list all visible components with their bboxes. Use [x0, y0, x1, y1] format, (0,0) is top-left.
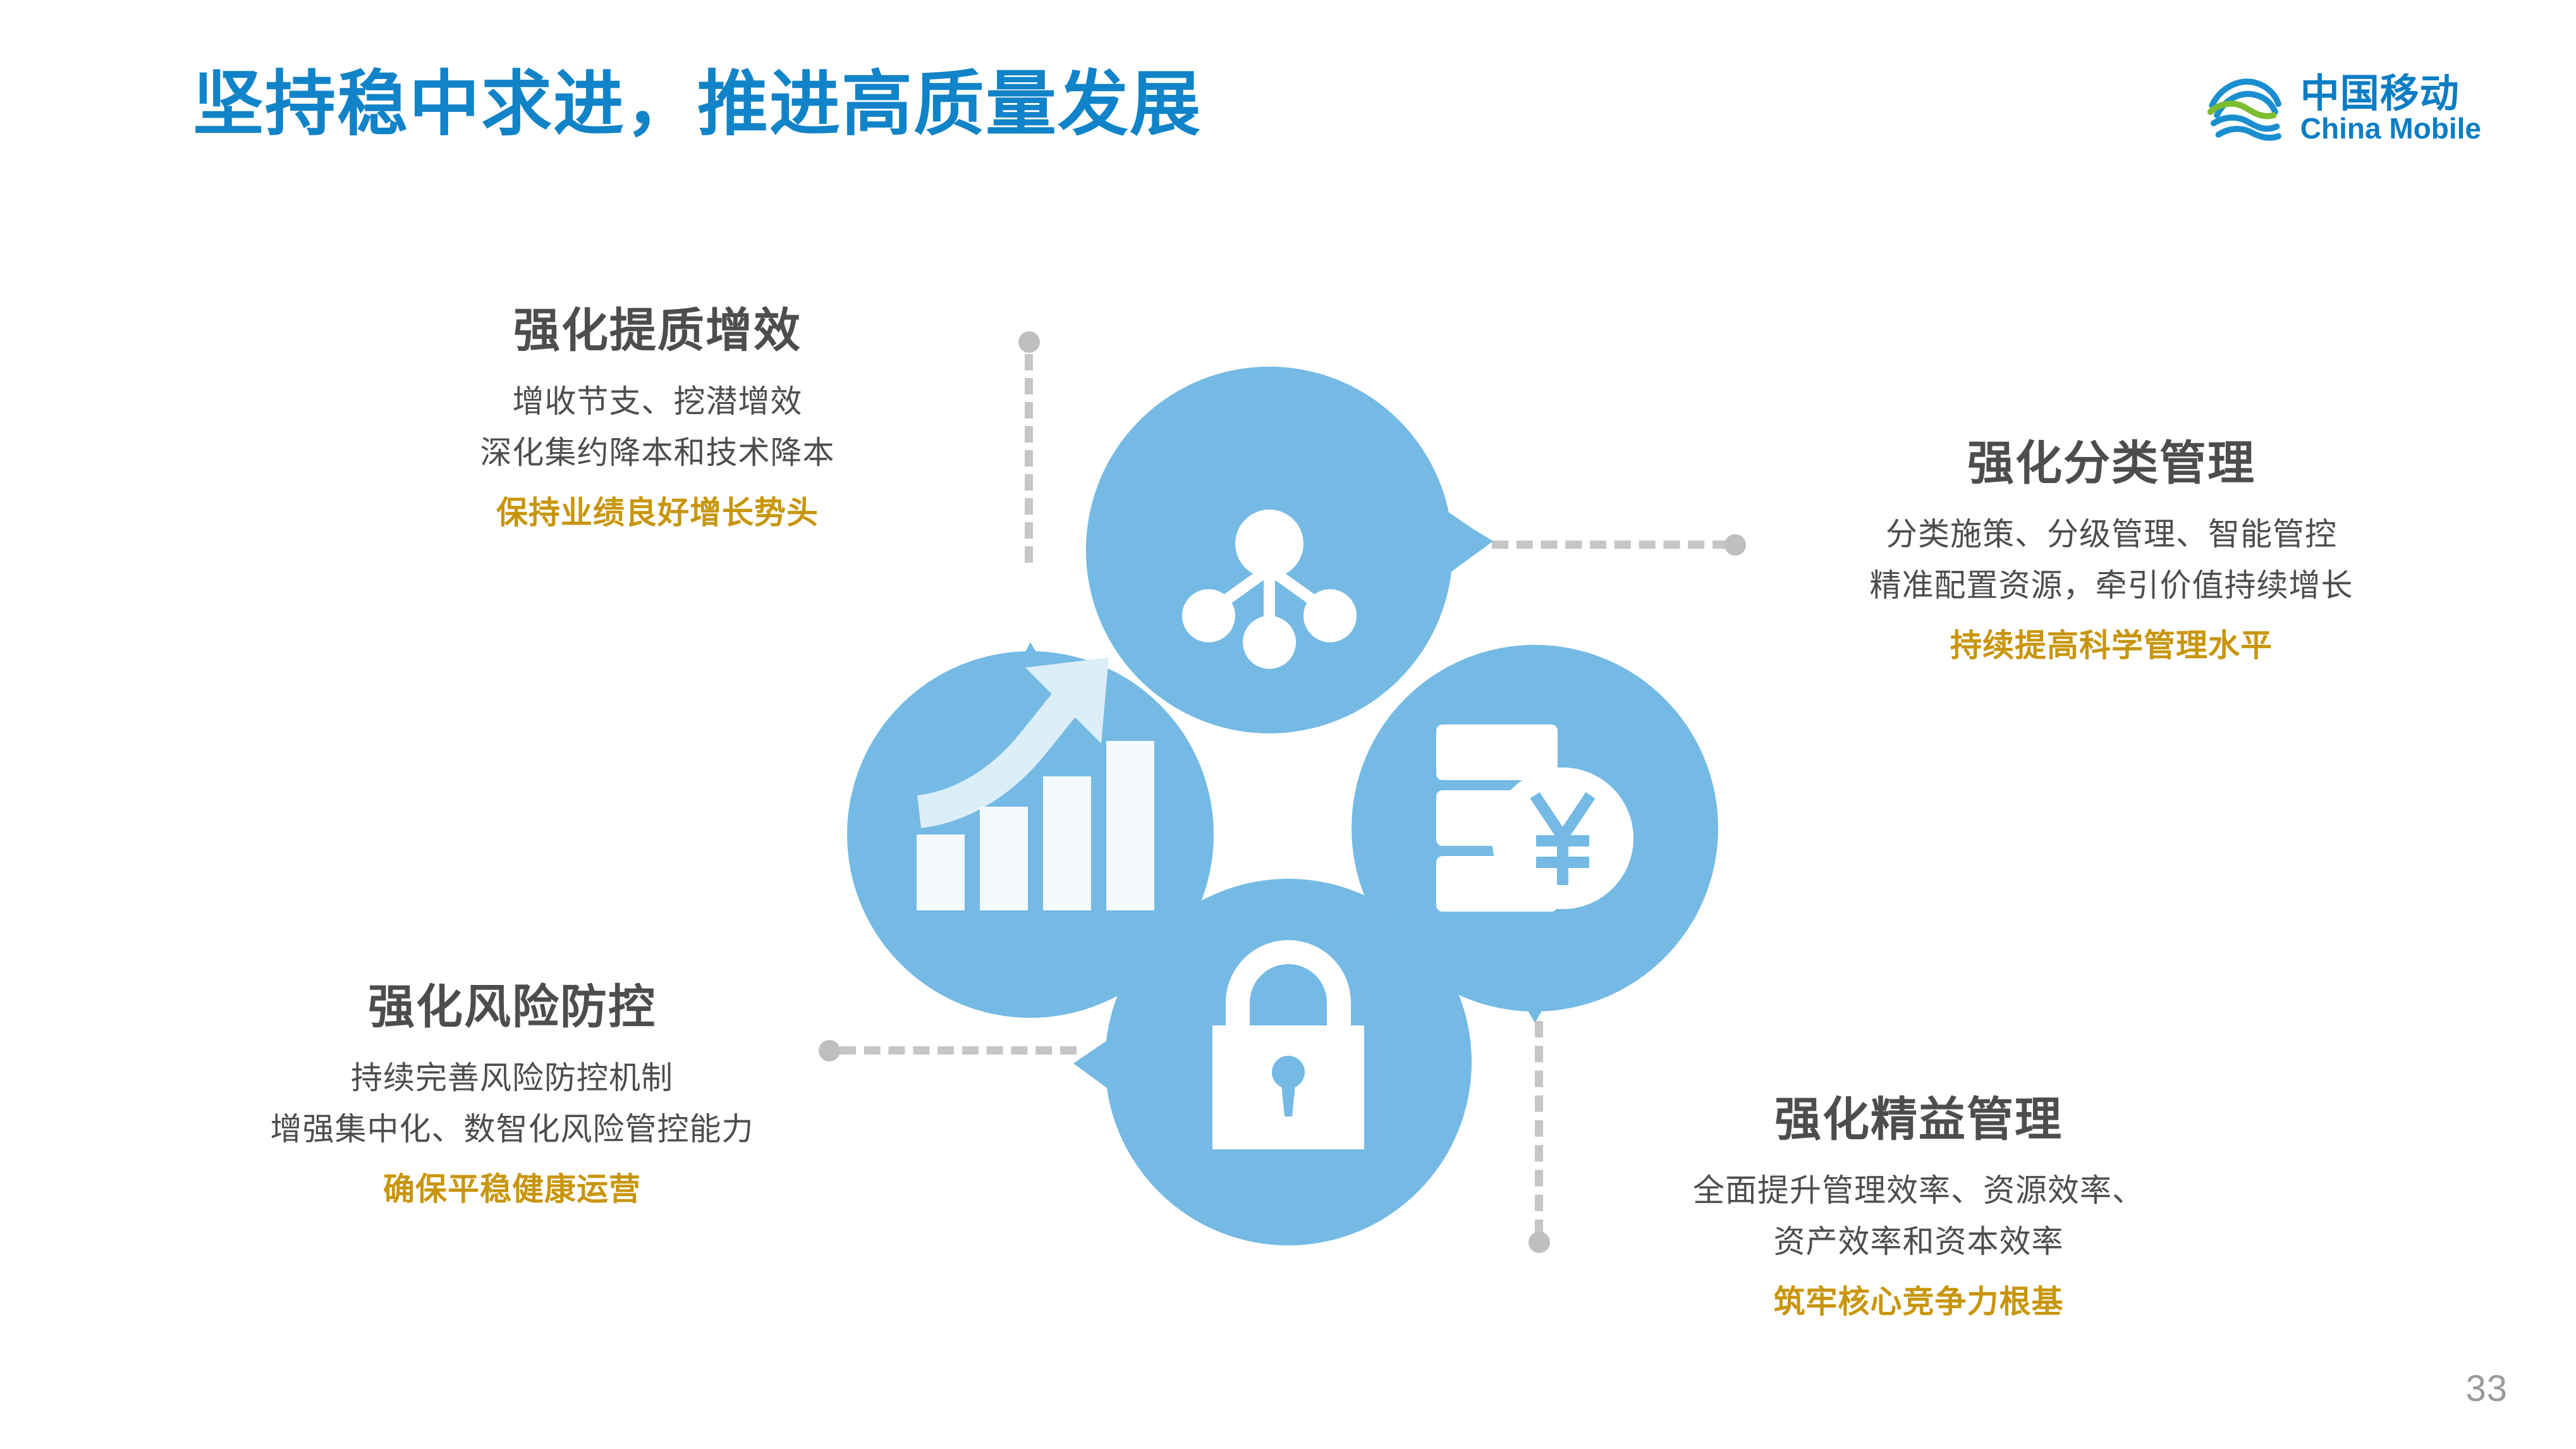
block-classify-line-2: 精准配置资源，牵引价值持续增长: [1764, 560, 2459, 611]
page-title: 坚持稳中求进，推进高质量发展: [193, 62, 1202, 147]
block-quality: 强化提质增效 增收节支、挖潜增效 深化集约降本和技术降本 保持业绩良好增长势头: [316, 303, 999, 539]
block-lean-line-2: 资产效率和资本效率: [1580, 1216, 2257, 1268]
block-classify-line-1: 分类施策、分级管理、智能管控: [1764, 509, 2459, 560]
block-classify-highlight: 持续提高科学管理水平: [1764, 620, 2459, 671]
logo-wordmark: 中国移动 China Mobile: [2300, 74, 2481, 144]
connector-dot-quality: [1018, 331, 1040, 353]
slide-canvas: 坚持稳中求进，推进高质量发展 中国移动 China Mobile 强化提质增效 …: [0, 0, 2576, 1449]
china-mobile-wave-logo-icon: [2206, 68, 2286, 149]
block-quality-line-2: 深化集约降本和技术降本: [316, 427, 999, 479]
block-risk: 强化风险防控 持续完善风险防控机制 增强集中化、数智化风险管控能力 确保平稳健康…: [183, 980, 841, 1215]
connector-dot-classify: [1724, 534, 1746, 556]
block-classify: 强化分类管理 分类施策、分级管理、智能管控 精准配置资源，牵引价值持续增长 持续…: [1764, 436, 2459, 671]
block-lean-highlight: 筑牢核心竞争力根基: [1580, 1276, 2257, 1328]
block-risk-line-2: 增强集中化、数智化风险管控能力: [183, 1104, 841, 1155]
block-risk-highlight: 确保平稳健康运营: [183, 1164, 841, 1215]
block-lean: 强化精益管理 全面提升管理效率、资源效率、 资产效率和资本效率 筑牢核心竞争力根…: [1580, 1092, 2257, 1328]
block-lean-heading: 强化精益管理: [1580, 1092, 2257, 1146]
connector-dot-lean: [1529, 1232, 1550, 1253]
connector-line-classify: [1492, 541, 1729, 549]
block-risk-line-1: 持续完善风险防控机制: [183, 1053, 841, 1104]
connector-line-risk: [839, 1046, 1077, 1055]
connector-dot-risk: [819, 1040, 840, 1061]
block-risk-heading: 强化风险防控: [183, 980, 841, 1034]
bubble-lock[interactable]: [1061, 866, 1478, 1258]
block-quality-heading: 强化提质增效: [316, 303, 999, 357]
page-number: 33: [2465, 1367, 2508, 1410]
connector-line-quality: [1025, 354, 1033, 563]
block-classify-heading: 强化分类管理: [1764, 436, 2459, 490]
logo-text-cn: 中国移动: [2300, 74, 2481, 114]
logo-text-en: China Mobile: [2300, 114, 2481, 144]
block-quality-line-1: 增收节支、挖潜增效: [316, 376, 999, 427]
china-mobile-logo: 中国移动 China Mobile: [2206, 68, 2481, 149]
block-quality-highlight: 保持业绩良好增长势头: [316, 487, 999, 539]
block-lean-line-1: 全面提升管理效率、资源效率、: [1580, 1165, 2257, 1216]
